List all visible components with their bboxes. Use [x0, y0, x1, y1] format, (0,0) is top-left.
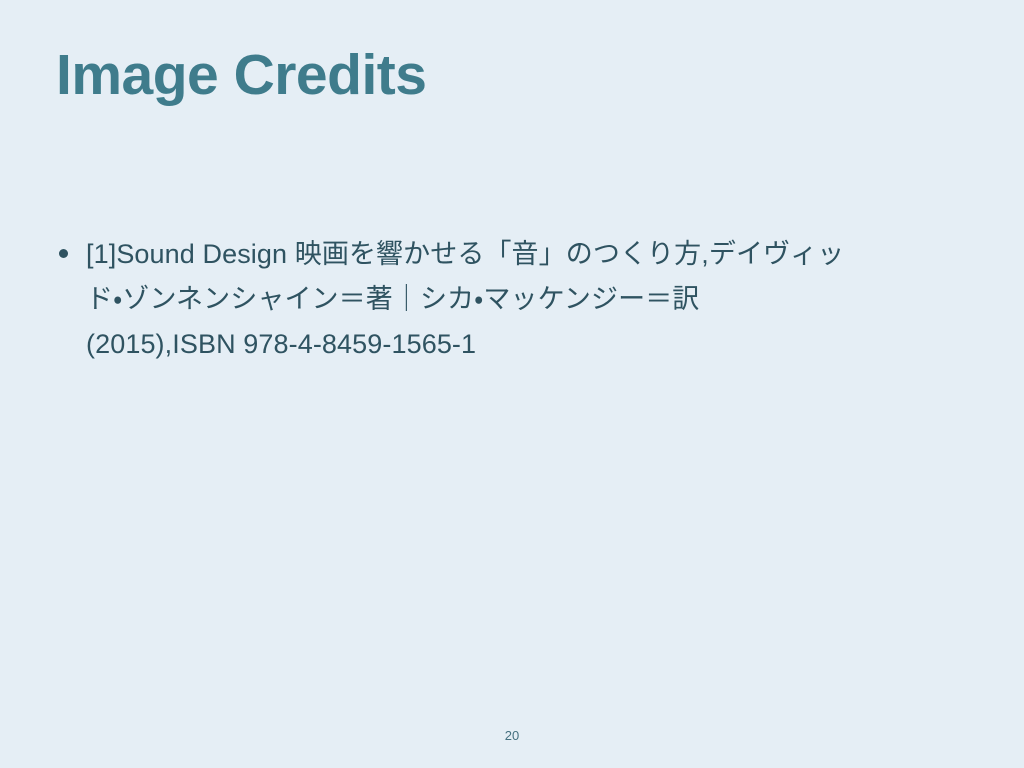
bullet-dot-icon	[59, 249, 68, 258]
list-item: [1]Sound Design 映画を響かせる「音」のつくり方,デイヴィッ ド・…	[56, 232, 956, 367]
credit-text-line-1: [1]Sound Design 映画を響かせる「音」のつくり方,デイヴィッ	[86, 232, 956, 277]
credit-text-line-3: (2015),ISBN 978-4-8459-1565-1	[86, 322, 956, 367]
image-credits-list: [1]Sound Design 映画を響かせる「音」のつくり方,デイヴィッ ド・…	[56, 232, 956, 367]
slide-root: Image Credits [1]Sound Design 映画を響かせる「音」…	[0, 0, 1024, 768]
credit-text-line-2: ド・ゾンネンシャイン＝著｜シカ・マッケンジー＝訳	[86, 277, 956, 322]
page-title: Image Credits	[56, 40, 426, 110]
page-number: 20	[0, 728, 1024, 744]
